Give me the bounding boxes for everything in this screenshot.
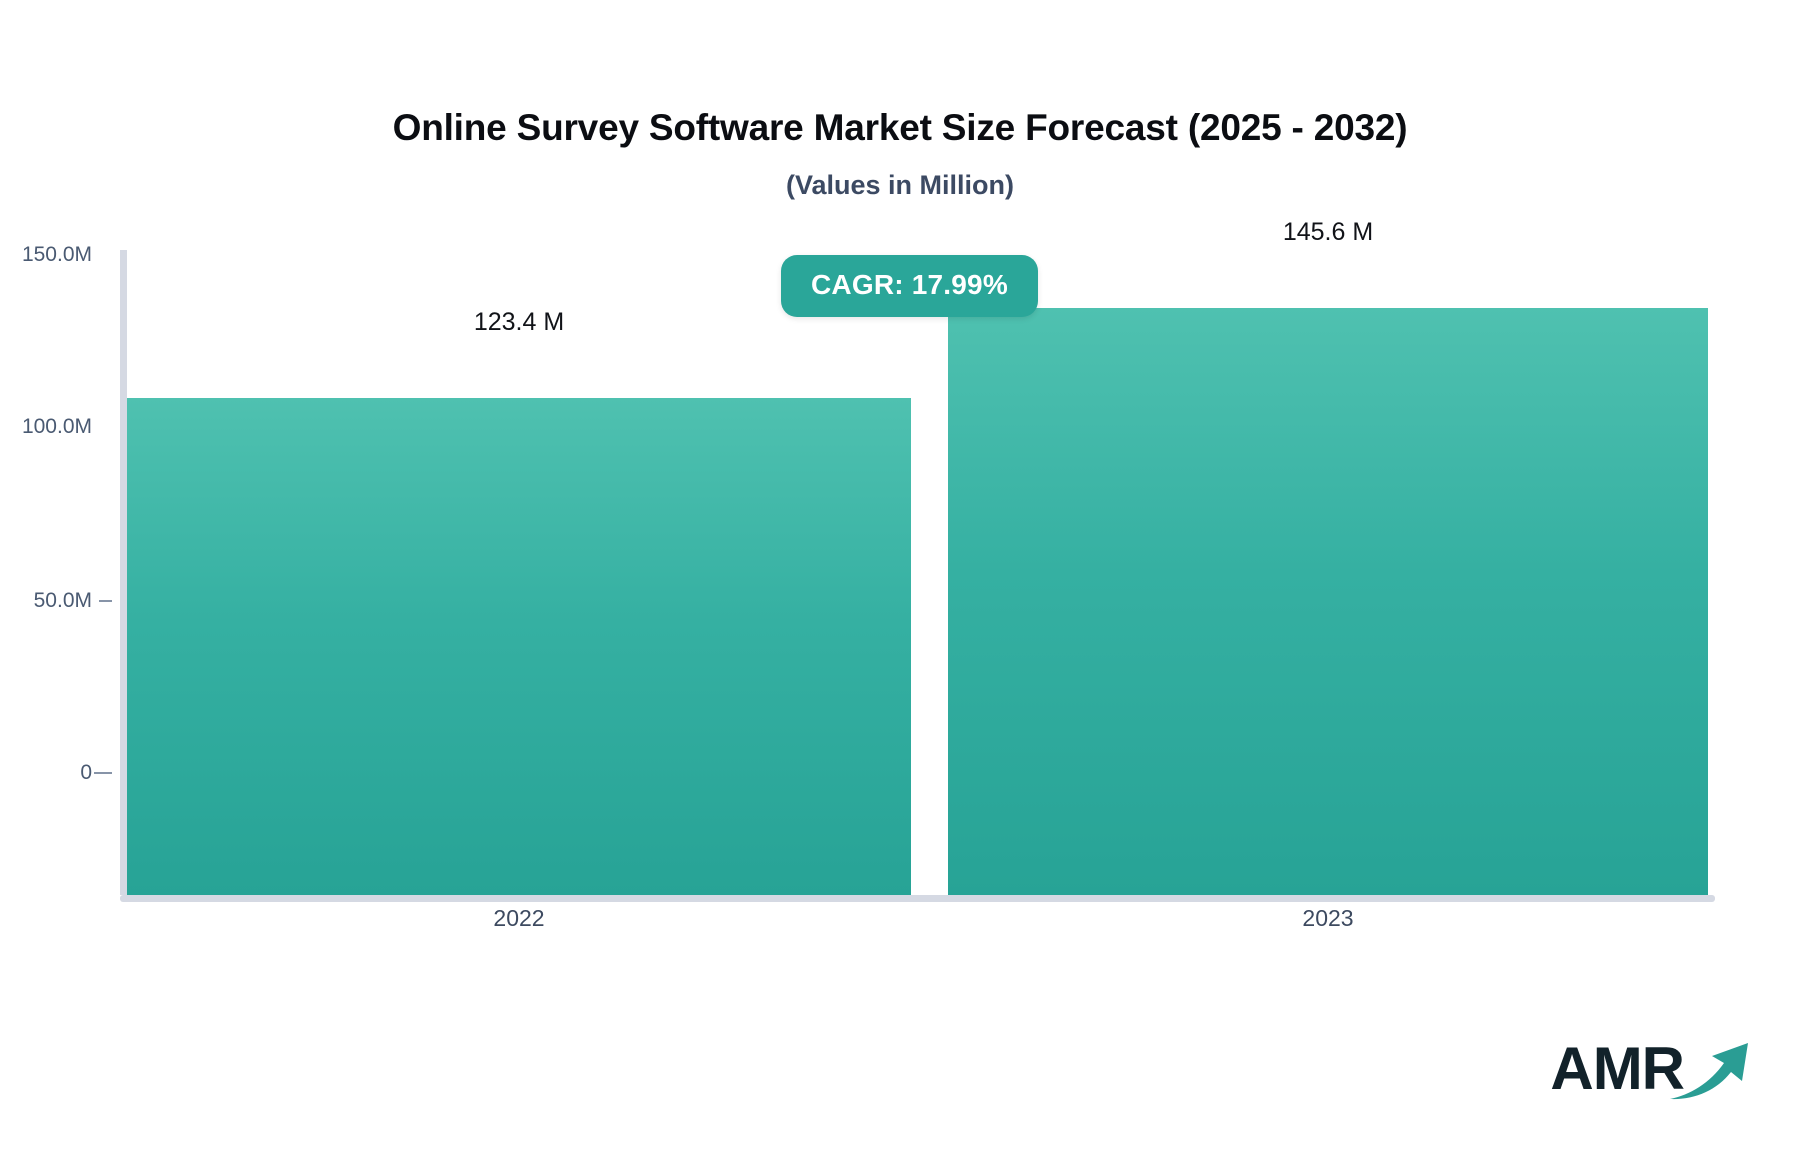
chart-container: Online Survey Software Market Size Forec… [0, 0, 1800, 1156]
bar-value-2023: 145.6 M [1283, 218, 1373, 247]
y-tick-mark-0 [94, 772, 112, 774]
bar-2022[interactable] [127, 398, 911, 895]
y-tick-label-50: 50.0M [34, 589, 92, 613]
y-tick-mark-50 [99, 600, 112, 602]
plot-area: 123.4 M 145.6 M [120, 250, 1715, 895]
amr-logo: AMR [1550, 1034, 1754, 1104]
x-tick-label-2022: 2022 [493, 905, 544, 932]
y-axis-line [120, 250, 127, 895]
x-axis-line [120, 895, 1715, 902]
chart-header: Online Survey Software Market Size Forec… [0, 108, 1800, 200]
chart-title: Online Survey Software Market Size Forec… [0, 108, 1800, 149]
y-tick-label-0: 0 [80, 761, 92, 785]
chart-subtitle: (Values in Million) [0, 171, 1800, 201]
x-tick-label-2023: 2023 [1302, 905, 1353, 932]
bar-2023[interactable] [948, 308, 1708, 895]
growth-arrow-icon [1668, 1039, 1754, 1108]
y-axis: 150.0M 100.0M 50.0M 0 [0, 250, 120, 895]
bar-value-2022: 123.4 M [474, 308, 564, 337]
cagr-badge: CAGR: 17.99% [781, 255, 1038, 317]
y-tick-label-100: 100.0M [22, 415, 92, 439]
x-axis: 2022 2023 [120, 905, 1715, 955]
logo-text: AMR [1550, 1039, 1684, 1099]
y-tick-label-150: 150.0M [22, 243, 92, 267]
